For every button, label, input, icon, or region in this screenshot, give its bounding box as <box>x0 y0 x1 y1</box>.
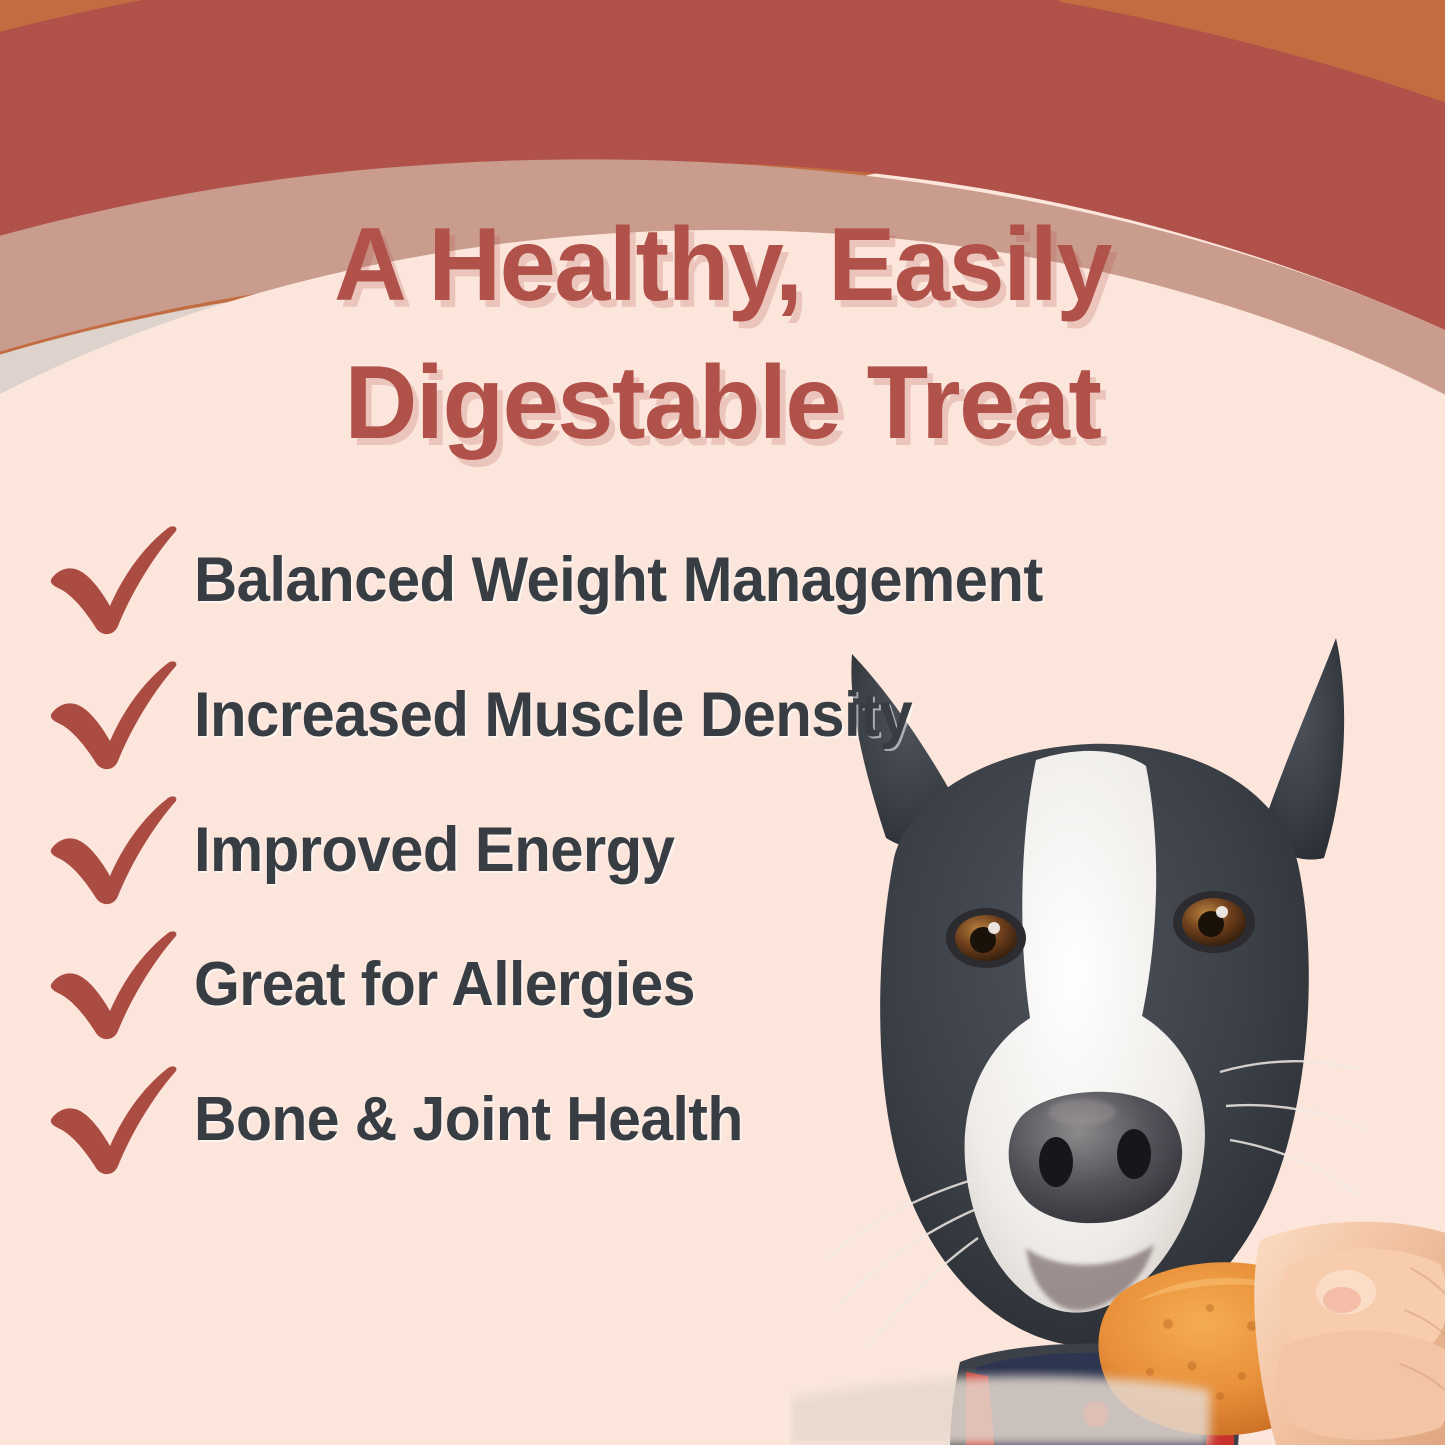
checkmark-icon <box>44 655 194 775</box>
list-item-label: Increased Muscle Density <box>194 679 912 751</box>
list-item: Bone & Joint Health <box>0 1052 1100 1187</box>
dog-right-eye <box>1173 891 1255 953</box>
list-item: Balanced Weight Management <box>0 512 1100 647</box>
checkmark-icon <box>44 520 194 640</box>
promo-poster: A Healthy, Easily Digestable Treat Balan… <box>0 0 1445 1445</box>
list-item-label: Great for Allergies <box>194 949 695 1020</box>
checkmark-icon <box>44 925 194 1045</box>
list-item: Improved Energy <box>0 782 1100 917</box>
checkmark-icon <box>44 790 194 910</box>
list-item: Increased Muscle Density <box>0 647 1100 782</box>
benefit-list: Balanced Weight Management Increased Mus… <box>0 512 1100 1187</box>
human-hand <box>1254 1222 1445 1445</box>
checkmark-icon <box>44 1060 194 1180</box>
list-item-label: Improved Energy <box>194 814 674 886</box>
list-item-label: Bone & Joint Health <box>194 1084 743 1155</box>
list-item-label: Balanced Weight Management <box>194 544 1043 616</box>
list-item: Great for Allergies <box>0 917 1100 1052</box>
